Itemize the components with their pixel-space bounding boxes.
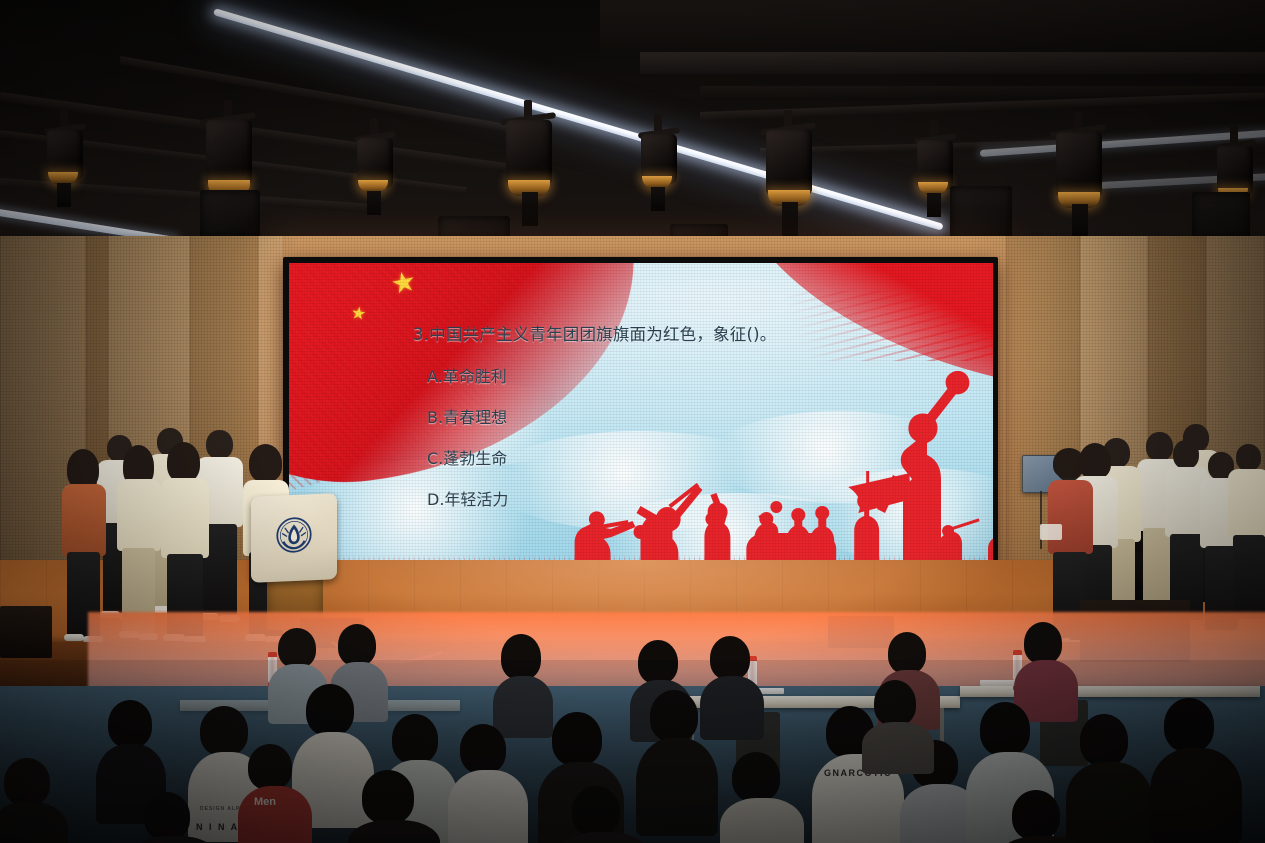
stage-spotlight [42,110,88,206]
quiz-question: 3.中国共产主义青年团团旗旗面为红色，象征()。 [413,321,933,345]
stage-spotlight [758,110,820,236]
shirt-text: N I N A [196,822,239,832]
stage-spotlight [1048,112,1110,238]
led-screen-surface: ★ ★ 3.中国共产主义青年团团旗旗面为红色，象征()。 A.革命胜利 B.青春… [289,263,993,577]
auditorium-scene: ★ ★ 3.中国共产主义青年团团旗旗面为红色，象征()。 A.革命胜利 B.青春… [0,0,1265,843]
ceiling-speaker [200,190,260,242]
flag-star-icon: ★ [350,304,367,323]
quiz-option-c: C.蓬勃生命 [427,445,933,469]
lectern [247,495,341,630]
quiz-option-a: A.革命胜利 [427,363,933,387]
ceiling-speaker [950,186,1012,242]
judges-table [960,686,1260,697]
led-screen: ★ ★ 3.中国共产主义青年团团旗旗面为红色，象征()。 A.革命胜利 B.青春… [283,257,998,582]
shirt-text: Men [254,796,276,808]
ceiling [0,0,1265,250]
quiz-option-b: B.青春理想 [427,404,933,428]
quiz-option-d: D.年轻活力 [427,486,933,510]
quiz-text-block: 3.中国共产主义青年团团旗旗面为红色，象征()。 A.革命胜利 B.青春理想 C… [413,321,933,527]
stage-spotlight [498,100,560,226]
university-emblem-icon [272,512,316,558]
stage-spotlight [636,114,682,210]
stage-riser-block [0,606,52,658]
stage-spotlight [352,118,398,214]
